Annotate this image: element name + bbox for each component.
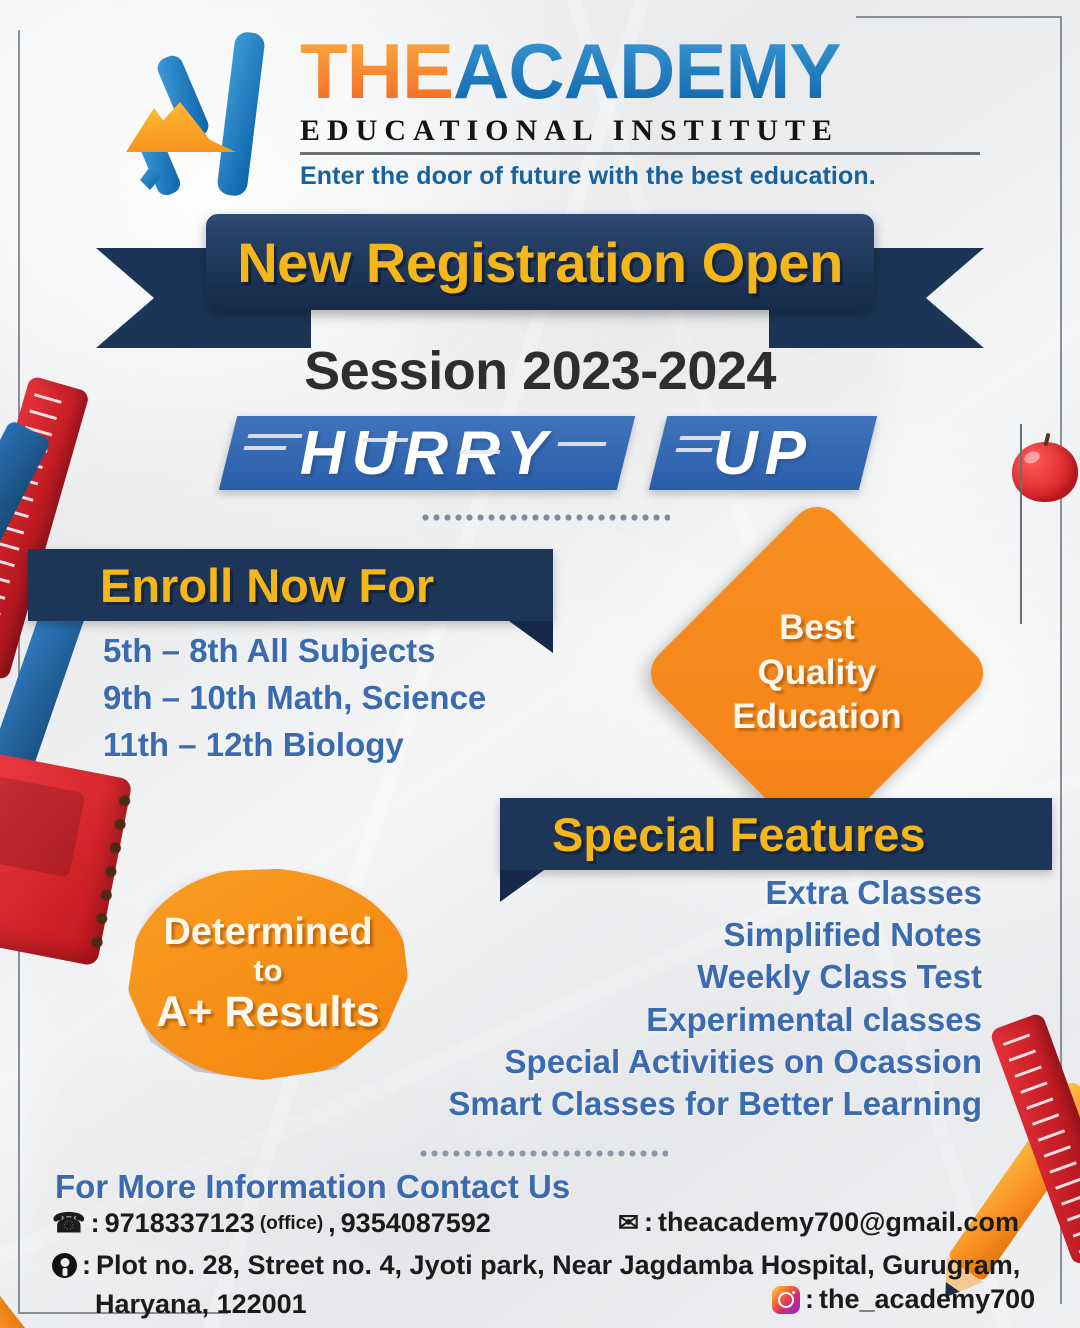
enroll-course-list: 5th – 8th All Subjects 9th – 10th Math, … <box>103 628 486 769</box>
ribbon-banner: New Registration Open <box>206 214 874 310</box>
colon: : <box>805 1284 814 1315</box>
enroll-section-banner: Enroll Now For <box>28 549 553 621</box>
list-item: Simplified Notes <box>448 914 982 956</box>
brand-title-academy: ACADEMY <box>453 27 840 115</box>
phone-primary-note: (office) <box>260 1213 323 1235</box>
dotted-divider <box>420 512 670 522</box>
contact-phone-row[interactable]: ☎ : 9718337123 (office) , 9354087592 <box>52 1208 491 1239</box>
contact-address-row-2: Haryana, 122001 <box>95 1289 307 1320</box>
special-features-list: Extra Classes Simplified Notes Weekly Cl… <box>448 872 982 1125</box>
email-address[interactable]: theacademy700@gmail.com <box>658 1207 1019 1238</box>
registration-ribbon: New Registration Open <box>96 214 984 346</box>
list-item: 5th – 8th All Subjects <box>103 628 486 675</box>
list-item: Experimental classes <box>448 999 982 1041</box>
results-badge-line3: A+ Results <box>156 990 379 1035</box>
speed-streak <box>676 448 713 452</box>
admission-poster: ★ <box>0 0 1080 1328</box>
enroll-heading: Enroll Now For <box>100 558 434 613</box>
speed-streak <box>460 450 501 454</box>
results-badge: Determined to A+ Results <box>128 868 408 1080</box>
contact-heading: For More Information Contact Us <box>55 1168 570 1206</box>
contact-instagram-row[interactable]: : the_academy700 <box>772 1284 1035 1315</box>
brand-tagline: Enter the door of future with the best e… <box>300 162 980 191</box>
hurry-up-graphic: HURRY UP <box>228 416 868 498</box>
session-title: Session 2023-2024 <box>0 340 1080 402</box>
banner-fold <box>509 621 553 653</box>
brand-block: THEACADEMY EDUCATIONAL INSTITUTE Enter t… <box>300 32 980 191</box>
phone-separator: , <box>328 1208 336 1239</box>
list-item: Special Activities on Ocassion <box>448 1041 982 1083</box>
brand-title: THEACADEMY <box>300 32 980 110</box>
quality-badge-line3: Education <box>732 695 901 740</box>
list-item: 9th – 10th Math, Science <box>103 675 486 722</box>
up-word-block: UP <box>649 416 877 490</box>
telephone-icon: ☎ <box>52 1208 86 1239</box>
phone-secondary[interactable]: 9354087592 <box>341 1208 491 1239</box>
poster-header: THEACADEMY EDUCATIONAL INSTITUTE Enter t… <box>0 14 1080 210</box>
instagram-handle[interactable]: the_academy700 <box>819 1284 1035 1315</box>
speed-streak <box>680 436 725 440</box>
features-section-banner: Special Features <box>500 798 1052 870</box>
quality-badge: Best Quality Education <box>692 548 942 798</box>
ribbon-label: New Registration Open <box>237 230 843 295</box>
location-pin-icon <box>52 1253 77 1278</box>
list-item: 11th – 12th Biology <box>103 722 486 769</box>
speed-streak <box>362 438 409 442</box>
colon: : <box>91 1208 100 1239</box>
address-line-2: Haryana, 122001 <box>95 1289 307 1320</box>
phone-primary[interactable]: 9718337123 <box>105 1208 255 1239</box>
dotted-divider <box>418 1148 668 1157</box>
speed-streak <box>244 446 287 450</box>
speed-streak <box>558 442 607 446</box>
hurry-word-block: HURRY <box>219 416 635 490</box>
results-badge-line2: to <box>253 953 282 990</box>
colon: : <box>644 1207 653 1238</box>
brand-subtitle: EDUCATIONAL INSTITUTE <box>300 114 980 155</box>
results-badge-line1: Determined <box>163 913 372 953</box>
quality-badge-line1: Best <box>779 606 855 651</box>
contact-email-row[interactable]: ✉ : theacademy700@gmail.com <box>618 1207 1019 1238</box>
medal-hanger <box>1020 424 1022 624</box>
hurry-word: HURRY <box>300 418 554 489</box>
speed-streak <box>248 434 303 438</box>
contact-address-row: : Plot no. 28, Street no. 4, Jyoti park,… <box>52 1250 1020 1281</box>
list-item: Smart Classes for Better Learning <box>448 1083 982 1125</box>
list-item: Extra Classes <box>448 872 982 914</box>
instagram-icon <box>772 1286 800 1314</box>
envelope-icon: ✉ <box>618 1208 639 1238</box>
academy-a-pen-logo-icon <box>118 30 278 200</box>
address-line-1: Plot no. 28, Street no. 4, Jyoti park, N… <box>96 1250 1020 1281</box>
brand-title-the: THE <box>300 27 453 115</box>
up-word: UP <box>713 418 813 489</box>
quality-badge-line2: Quality <box>758 651 877 696</box>
list-item: Weekly Class Test <box>448 956 982 998</box>
colon: : <box>82 1250 91 1281</box>
features-heading: Special Features <box>552 807 926 862</box>
